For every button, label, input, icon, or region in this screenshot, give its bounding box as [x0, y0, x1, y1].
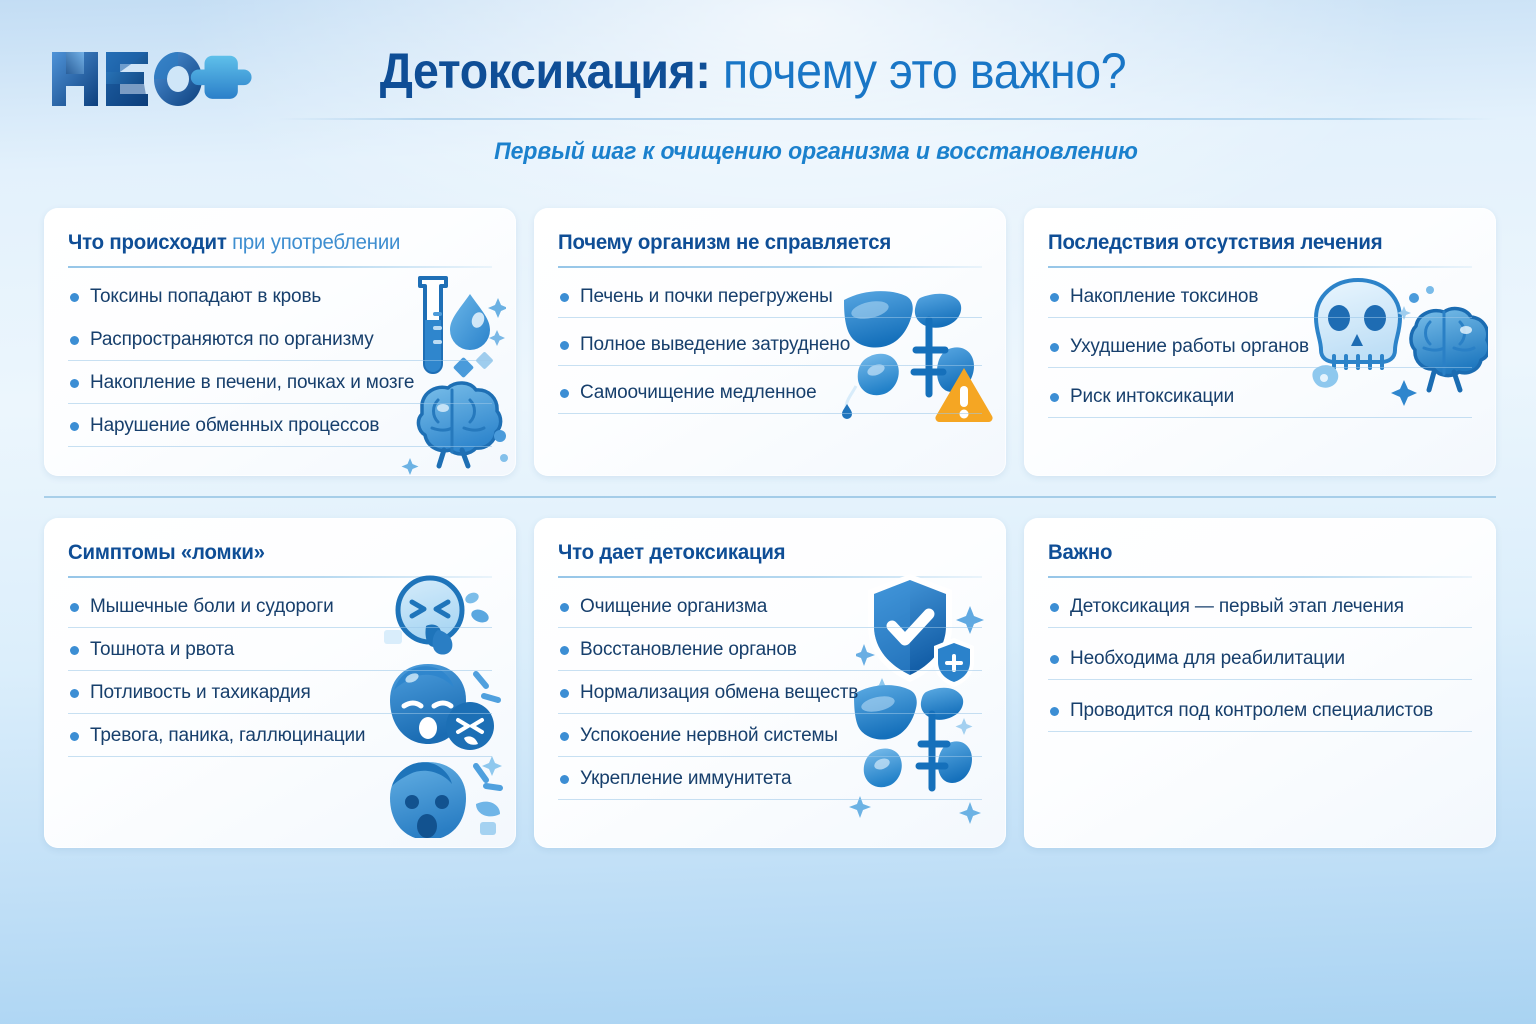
list-item: Необходима для реабилитации	[1048, 646, 1472, 680]
list-item: Потливость и тахикардия	[68, 680, 492, 714]
list-item: Накопление в печени, почках и мозге	[68, 370, 492, 404]
card-title: Последствия отсутствия лечения	[1048, 230, 1459, 256]
list-item: Мышечные боли и судороги	[68, 594, 492, 628]
neo-plus-logo	[44, 42, 254, 116]
list-item: Тошнота и рвота	[68, 637, 492, 671]
page-header: Детоксикация: почему это важно? Первый ш…	[0, 0, 1536, 186]
card-title-underline	[558, 266, 982, 268]
page-title: Детоксикация: почему это важно?	[278, 40, 1498, 102]
list-item: Очищение организма	[558, 594, 982, 628]
list-item: Проводится под контролем специалистов	[1048, 698, 1472, 732]
card-bullet-list: Токсины попадают в кровь Распространяютс…	[68, 284, 492, 447]
card-title-bold: Симптомы «ломки»	[68, 541, 265, 564]
card-title-bold: Последствия отсутствия лечения	[1048, 231, 1382, 254]
card-title: Что дает детоксикация	[558, 540, 969, 566]
card-bullet-list: Очищение организма Восстановление органо…	[558, 594, 982, 800]
title-divider	[278, 118, 1496, 120]
card-title-underline	[558, 576, 982, 578]
card-withdrawal-symptoms[interactable]: Симптомы «ломки» Мышечные боли и судорог…	[44, 518, 516, 848]
list-item: Укрепление иммунитета	[558, 766, 982, 800]
list-item: Печень и почки перегружены	[558, 284, 982, 318]
card-important[interactable]: Важно Детоксикация — первый этап лечения…	[1024, 518, 1496, 848]
card-title-bold: Почему организм не справляется	[558, 231, 891, 254]
cards-row-bottom: Симптомы «ломки» Мышечные боли и судорог…	[44, 518, 1496, 848]
row-divider	[44, 496, 1496, 498]
list-item: Успокоение нервной системы	[558, 723, 982, 757]
card-title-underline	[1048, 266, 1472, 268]
card-why-body-fails[interactable]: Почему организм не справляется Печень и …	[534, 208, 1006, 476]
card-title-underline	[1048, 576, 1472, 578]
card-title-underline	[68, 576, 492, 578]
card-bullet-list: Детоксикация — первый этап лечения Необх…	[1048, 594, 1472, 732]
card-title: Что происходит при употреблении	[68, 230, 479, 256]
card-title-bold: Важно	[1048, 541, 1112, 564]
card-title-underline	[68, 266, 492, 268]
cards-board: Что происходит при употреблении Токсины …	[44, 208, 1496, 848]
cards-row-top: Что происходит при употреблении Токсины …	[44, 208, 1496, 476]
card-no-treatment-consequences[interactable]: Последствия отсутствия лечения Накоплени…	[1024, 208, 1496, 476]
list-item: Самоочищение медленное	[558, 380, 982, 414]
page-title-primary: Детоксикация:	[380, 43, 711, 99]
list-item: Тревога, паника, галлюцинации	[68, 723, 492, 757]
list-item: Детоксикация — первый этап лечения	[1048, 594, 1472, 628]
card-bullet-list: Печень и почки перегружены Полное выведе…	[558, 284, 982, 414]
card-bullet-list: Накопление токсинов Ухудшение работы орг…	[1048, 284, 1472, 418]
card-title-bold: Что происходит	[68, 231, 227, 254]
list-item: Токсины попадают в кровь	[68, 284, 492, 318]
card-title: Почему организм не справляется	[558, 230, 969, 256]
list-item: Риск интоксикации	[1048, 384, 1472, 418]
list-item: Ухудшение работы органов	[1048, 334, 1472, 368]
list-item: Восстановление органов	[558, 637, 982, 671]
card-title-bold: Что дает детоксикация	[558, 541, 785, 564]
card-what-happens[interactable]: Что происходит при употреблении Токсины …	[44, 208, 516, 476]
card-title: Важно	[1048, 540, 1459, 566]
card-title-light: при употреблении	[227, 231, 401, 254]
list-item: Накопление токсинов	[1048, 284, 1472, 318]
page-title-secondary: почему это важно?	[710, 43, 1126, 99]
list-item: Нормализация обмена веществ	[558, 680, 982, 714]
card-bullet-list: Мышечные боли и судороги Тошнота и рвота…	[68, 594, 492, 757]
card-title: Симптомы «ломки»	[68, 540, 479, 566]
page-subtitle: Первый шаг к очищению организма и восста…	[302, 138, 1471, 166]
list-item: Полное выведение затруднено	[558, 332, 982, 366]
card-detox-benefits[interactable]: Что дает детоксикация Очищение организма…	[534, 518, 1006, 848]
list-item: Нарушение обменных процессов	[68, 413, 492, 447]
list-item: Распространяются по организму	[68, 327, 492, 361]
